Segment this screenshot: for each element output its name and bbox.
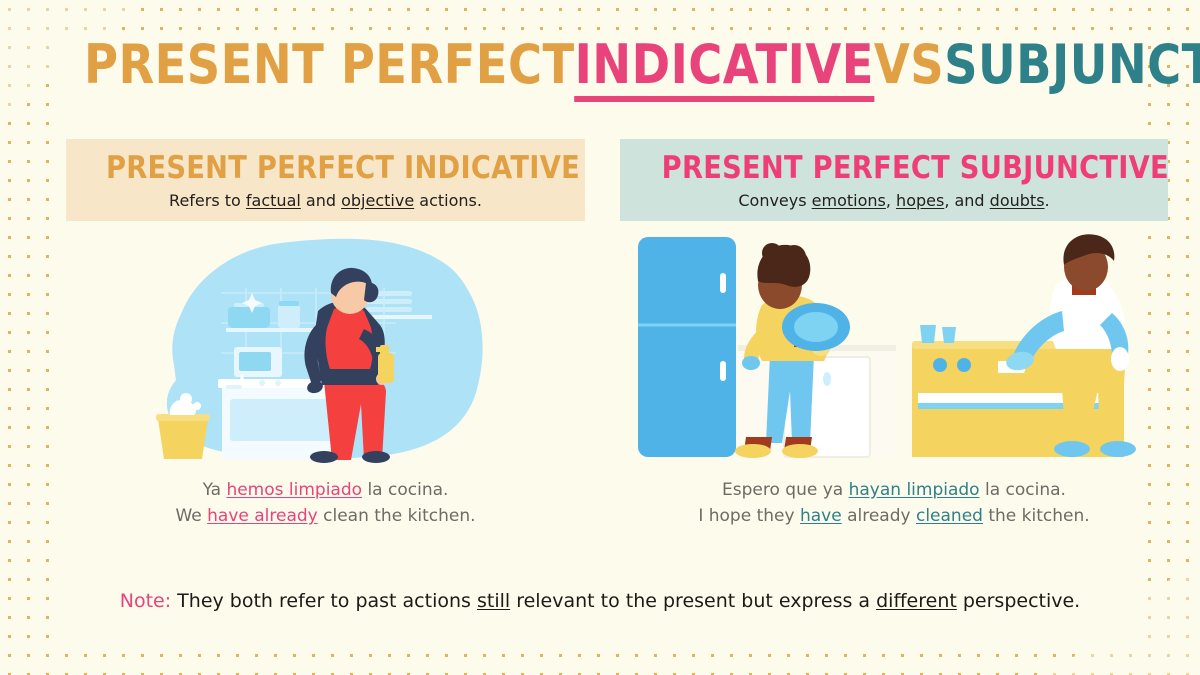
note-post: perspective.: [957, 590, 1080, 612]
indicative-es-pre: Ya: [203, 480, 227, 500]
refrigerator: [638, 237, 736, 457]
indicative-en-pre: We: [175, 506, 207, 526]
note-pre: They both refer to past actions: [171, 590, 477, 612]
two-people-kitchen-illustration: [620, 233, 1168, 463]
indicative-panel: PRESENT PERFECT INDICATIVE Refers to fac…: [66, 139, 585, 529]
indicative-subtitle-pre: Refers to: [169, 191, 246, 210]
subjunctive-subtitle: Conveys emotions, hopes, and doubts.: [630, 192, 1158, 210]
subjunctive-en-highlight-1: have: [800, 506, 842, 526]
indicative-subtitle-post: actions.: [414, 191, 482, 210]
indicative-subtitle-mid: and: [301, 191, 341, 210]
subjunctive-en-post: the kitchen.: [983, 506, 1090, 526]
subjunctive-en-pre: I hope they: [698, 506, 800, 526]
subjunctive-es-post: la cocina.: [980, 480, 1066, 500]
indicative-example-spanish: Ya hemos limpiado la cocina.: [66, 477, 585, 503]
indicative-header-box: PRESENT PERFECT INDICATIVE Refers to fac…: [66, 139, 585, 221]
title-part-indicative: INDICATIVE: [575, 38, 874, 92]
note-label: Note:: [120, 590, 171, 612]
subjunctive-heading: PRESENT PERFECT SUBJUNCTIVE: [662, 153, 1127, 184]
indicative-heading: PRESENT PERFECT INDICATIVE: [106, 153, 545, 184]
indicative-es-highlight: hemos limpiado: [226, 480, 362, 500]
subjunctive-subtitle-pre: Conveys: [738, 191, 811, 210]
subjunctive-subtitle-doubts: doubts: [990, 191, 1045, 210]
subjunctive-header-box: PRESENT PERFECT SUBJUNCTIVE Conveys emot…: [620, 139, 1168, 221]
subjunctive-subtitle-emotions: emotions: [812, 191, 886, 210]
indicative-es-post: la cocina.: [362, 480, 448, 500]
subjunctive-panel: PRESENT PERFECT SUBJUNCTIVE Conveys emot…: [620, 139, 1168, 529]
note-underline-different: different: [876, 590, 957, 612]
woman-cleaning-kitchen-illustration: [66, 233, 585, 463]
title-part-vs: VS: [874, 38, 944, 92]
title-part-present-perfect: PRESENT PERFECT: [84, 38, 575, 92]
footer-note: Note: They both refer to past actions st…: [0, 590, 1200, 612]
subjunctive-illustration-wrapper: [620, 233, 1168, 463]
subjunctive-example-spanish: Espero que ya hayan limpiado la cocina.: [620, 477, 1168, 503]
page-title: PRESENT PERFECT INDICATIVE VS SUBJUNCTIV…: [84, 38, 1116, 92]
indicative-subtitle-factual: factual: [246, 191, 301, 210]
subjunctive-subtitle-mid1: ,: [886, 191, 896, 210]
subjunctive-example-english: I hope they have already cleaned the kit…: [620, 503, 1168, 529]
indicative-en-highlight: have already: [207, 506, 318, 526]
indicative-illustration-wrapper: [66, 233, 585, 463]
subjunctive-subtitle-post: .: [1045, 191, 1050, 210]
subjunctive-es-pre: Espero que ya: [722, 480, 849, 500]
indicative-example-english: We have already clean the kitchen.: [66, 503, 585, 529]
note-underline-still: still: [477, 590, 510, 612]
subjunctive-subtitle-mid2: , and: [944, 191, 989, 210]
subjunctive-en-highlight-2: cleaned: [916, 506, 983, 526]
subjunctive-es-highlight: hayan limpiado: [849, 480, 980, 500]
subjunctive-examples: Espero que ya hayan limpiado la cocina. …: [620, 477, 1168, 530]
title-part-subjunctive: SUBJUNCTIVE: [944, 38, 1200, 92]
note-mid: relevant to the present but express a: [510, 590, 876, 612]
subjunctive-en-mid: already: [842, 506, 916, 526]
indicative-subtitle-objective: objective: [341, 191, 414, 210]
subjunctive-subtitle-hopes: hopes: [896, 191, 944, 210]
indicative-subtitle: Refers to factual and objective actions.: [76, 192, 575, 210]
indicative-examples: Ya hemos limpiado la cocina. We have alr…: [66, 477, 585, 530]
indicative-en-post: clean the kitchen.: [318, 506, 476, 526]
